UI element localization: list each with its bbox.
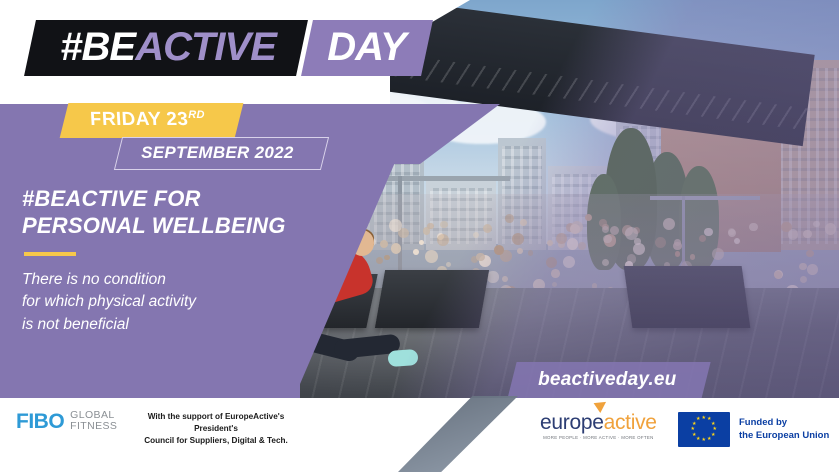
logo-black-block: #BEACTIVE: [24, 20, 307, 76]
headline-line-2: PERSONAL WELLBEING: [22, 213, 286, 240]
fibo-subtitle-line-2: FITNESS: [70, 421, 117, 432]
support-credit-line-1: With the support of EuropeActive's Presi…: [128, 411, 304, 435]
europeactive-wordmark: europeactive: [540, 412, 657, 433]
logo-active-text: ACTIVE: [135, 27, 276, 67]
logo-purple-block: DAY: [301, 20, 433, 76]
beactive-day-poster: #BEACTIVE DAY FRIDAY 23RD SEPTEMBER 2022…: [0, 0, 839, 472]
footer-bar: FIBO GLOBAL FITNESS With the support of …: [0, 398, 839, 472]
support-credit-line-2: Council for Suppliers, Digital & Tech.: [128, 435, 304, 447]
website-url-label: beactiveday.eu: [538, 369, 676, 391]
headline-line-1: #BEACTIVE FOR: [22, 186, 286, 213]
europeactive-logo: europeactive MORE PEOPLE · MORE ACTIVE ·…: [540, 412, 657, 440]
beactive-day-logo: #BEACTIVE DAY: [30, 20, 427, 76]
tagline-text: There is no condition for which physical…: [22, 269, 196, 336]
eu-star-icon: ★: [707, 437, 711, 442]
europeactive-active-text: active: [604, 411, 657, 434]
date-badge-month: SEPTEMBER 2022: [114, 137, 329, 170]
logo-day-text: DAY: [327, 27, 405, 67]
eu-star-icon: ★: [691, 427, 695, 432]
date-badge-day: FRIDAY 23RD: [60, 103, 243, 138]
europeactive-tagline: MORE PEOPLE · MORE ACTIVE · MORE OFTEN: [540, 435, 657, 440]
eu-star-icon: ★: [711, 433, 715, 438]
eu-star-icon: ★: [692, 433, 696, 438]
logo-be-text: #BE: [60, 27, 135, 67]
date-ordinal: RD: [188, 109, 205, 121]
fibo-logo: FIBO GLOBAL FITNESS: [16, 410, 117, 433]
tagline-line-3: is not beneficial: [22, 314, 196, 336]
tagline-line-1: There is no condition: [22, 269, 196, 291]
eu-funding-emblem: ★★★★★★★★★★★★ Funded by the European Unio…: [678, 412, 829, 447]
eu-flag-icon: ★★★★★★★★★★★★: [678, 412, 730, 447]
fibo-subtitle: GLOBAL FITNESS: [70, 410, 117, 433]
date-badge-month-label: SEPTEMBER 2022: [141, 143, 294, 163]
footer-photo-wedge: [398, 396, 518, 472]
eu-star-icon: ★: [696, 437, 700, 442]
support-credit: With the support of EuropeActive's Presi…: [128, 411, 304, 447]
tagline-line-2: for which physical activity: [22, 291, 196, 313]
eu-funding-line-1: Funded by: [739, 417, 829, 430]
fibo-wordmark: FIBO: [16, 411, 64, 432]
date-badge-day-label: FRIDAY 23RD: [90, 109, 205, 131]
eu-funding-text: Funded by the European Union: [739, 417, 829, 443]
website-url-banner[interactable]: beactiveday.eu: [507, 362, 711, 399]
europeactive-europe-text: europe: [540, 411, 604, 434]
eu-star-icon: ★: [702, 416, 706, 421]
eu-star-icon: ★: [696, 417, 700, 422]
page-title: #BEACTIVE FOR PERSONAL WELLBEING: [22, 186, 286, 240]
eu-funding-line-2: the European Union: [739, 430, 829, 443]
yellow-divider: [24, 252, 76, 256]
eu-star-icon: ★: [702, 438, 706, 443]
